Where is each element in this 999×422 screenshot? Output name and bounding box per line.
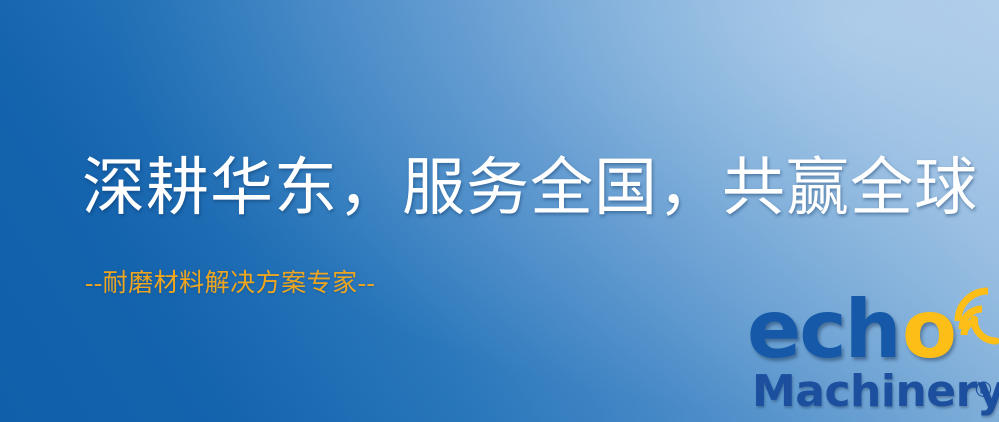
banner-headline: 深耕华东，服务全国，共赢全球	[82, 152, 978, 224]
logo-trademark-symbol: ®	[973, 380, 994, 401]
company-logo: ech o Machinery ®	[744, 296, 996, 418]
logo-text-machinery: Machinery	[752, 368, 999, 416]
logo-mark: ech o	[744, 296, 996, 370]
logo-text-ech: ech	[747, 290, 900, 370]
promo-banner: 深耕华东，服务全国，共赢全球 --耐磨材料解决方案专家-- ech o Mach…	[0, 0, 999, 422]
signal-waves-icon	[944, 287, 999, 347]
banner-subtitle: --耐磨材料解决方案专家--	[85, 269, 375, 299]
